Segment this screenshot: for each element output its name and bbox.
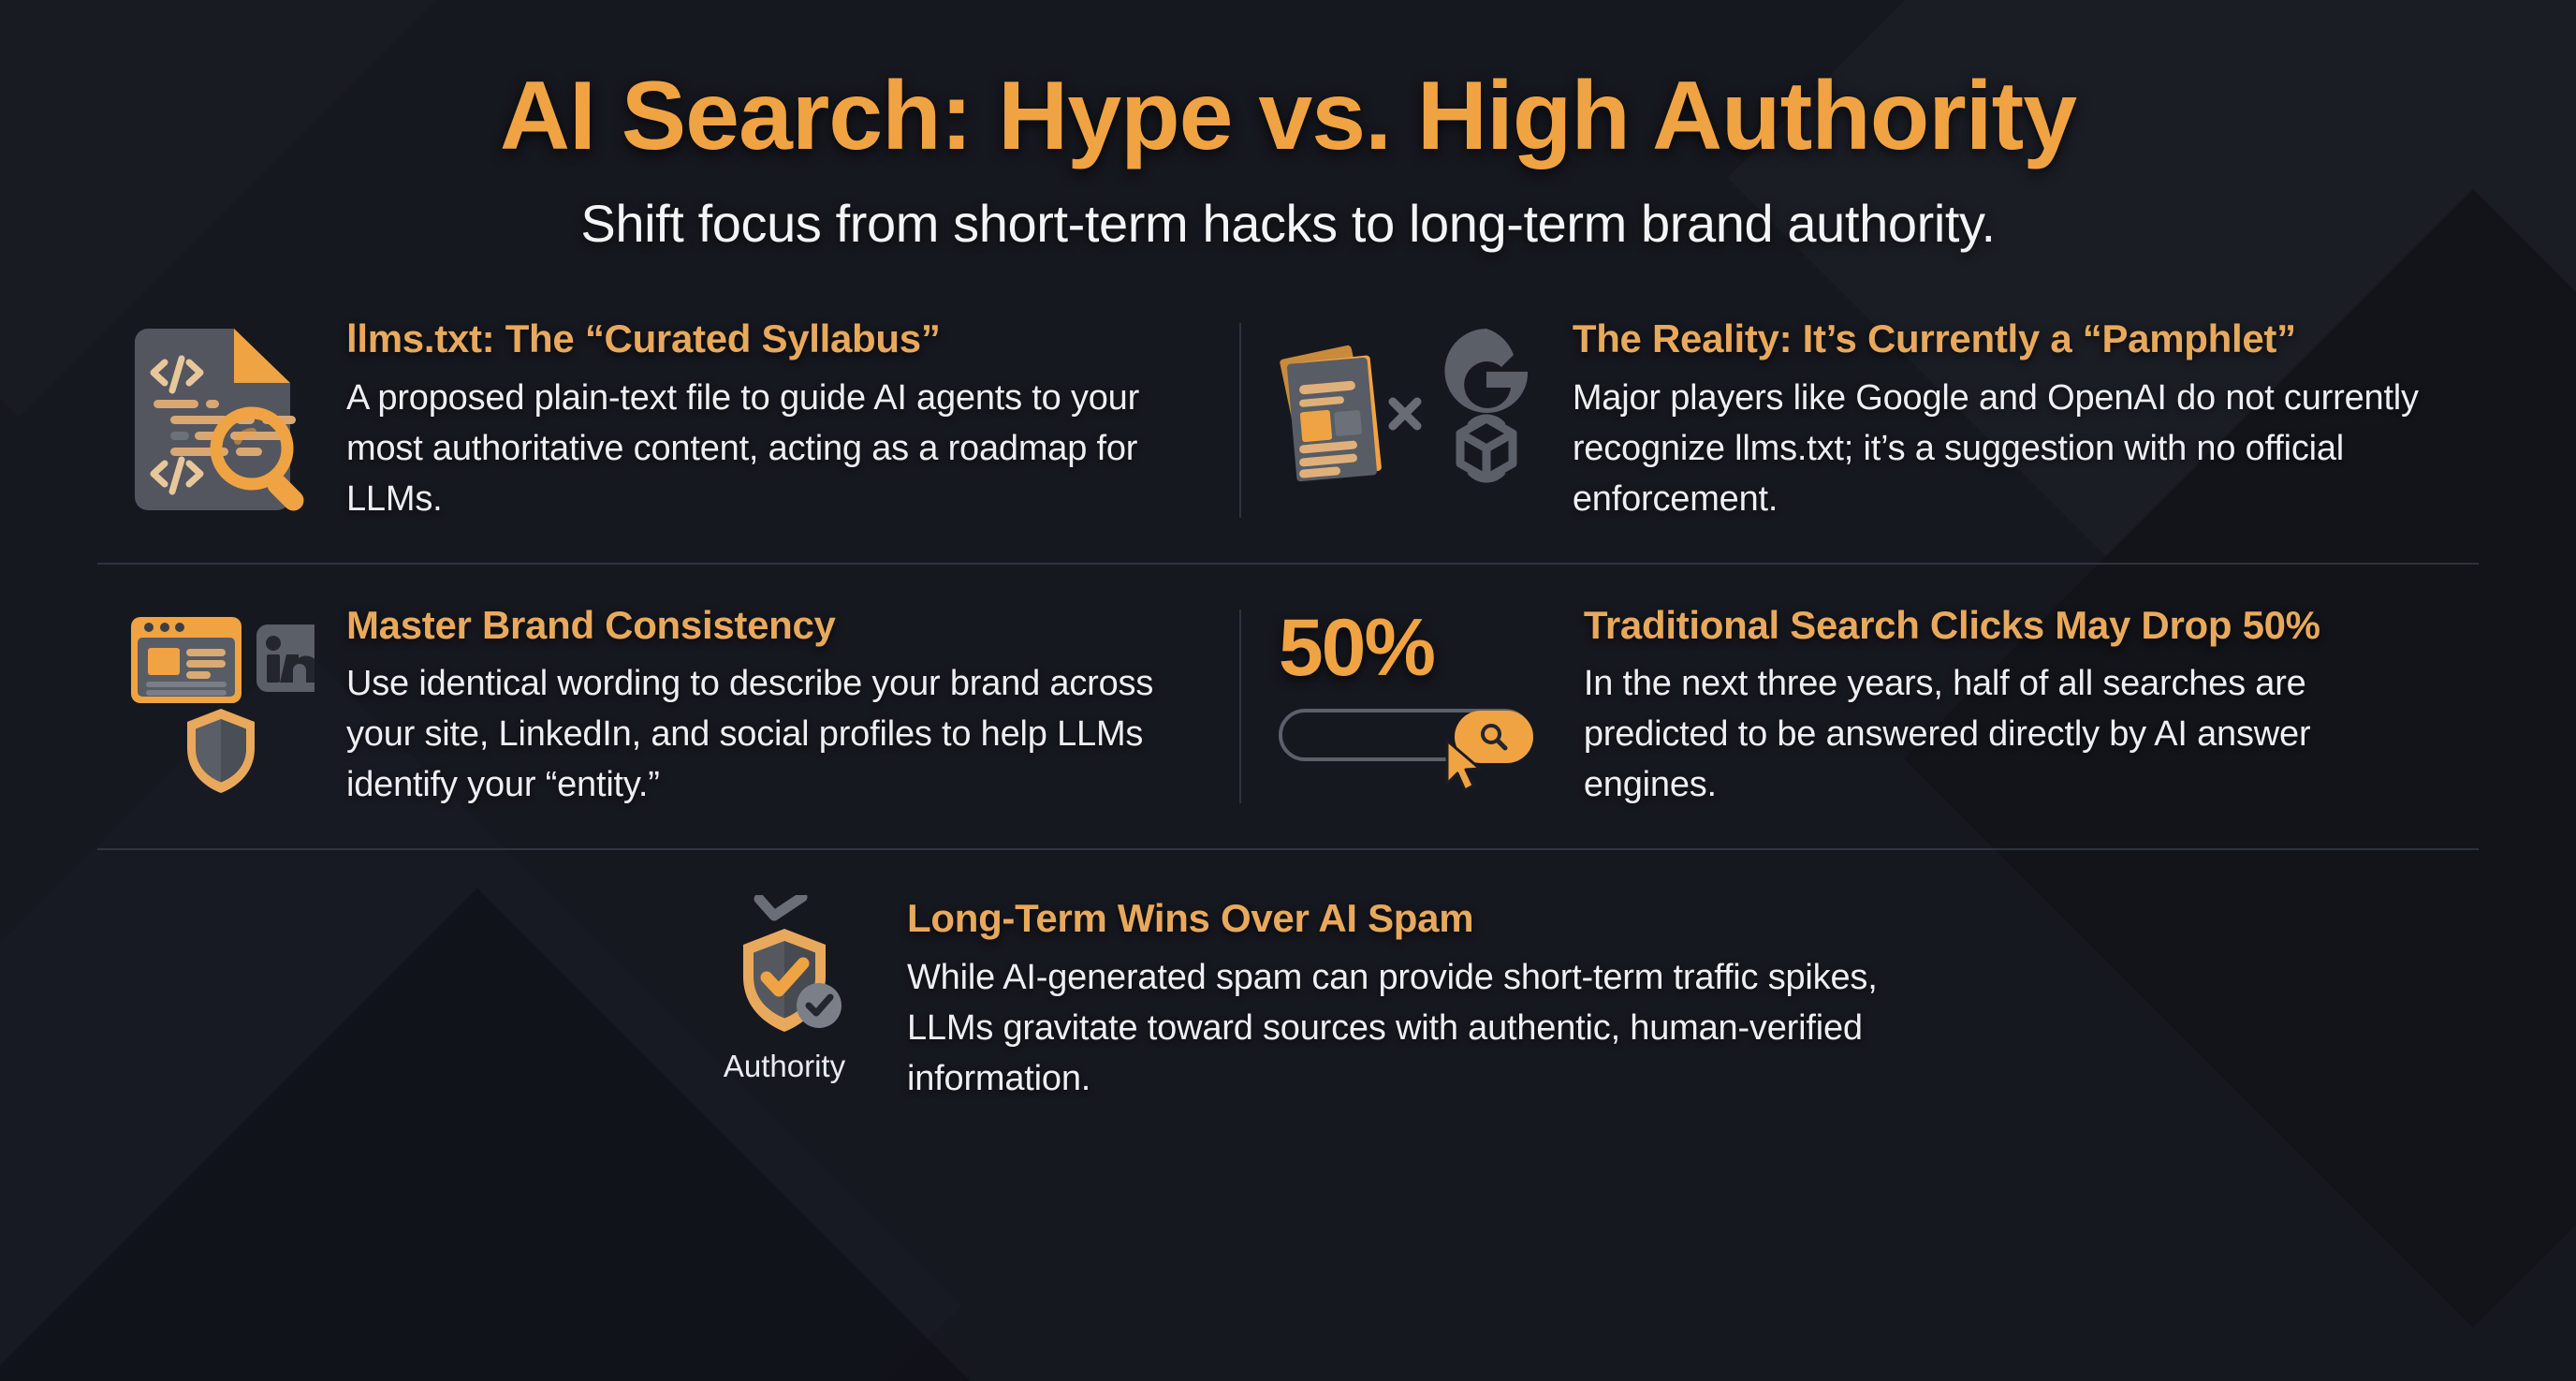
- card-reality-icons: [1279, 316, 1541, 508]
- card-row-3: Authority Long-Term Wins Over AI Spam Wh…: [90, 882, 2486, 1104]
- page-subtitle: Shift focus from short-term hacks to lon…: [90, 193, 2486, 254]
- card-clicks-icons: 50%: [1279, 602, 1552, 761]
- card-title: Traditional Search Clicks May Drop 50%: [1584, 602, 2449, 649]
- card-body: A proposed plain-text file to guide AI a…: [346, 374, 1202, 525]
- card-reality-pamphlet: The Reality: It’s Currently a “Pamphlet”…: [1241, 310, 2486, 530]
- vertical-divider: [1239, 610, 1241, 803]
- pamphlet-stack-icon: [1279, 345, 1382, 481]
- authority-icon-group: Authority: [695, 895, 873, 1084]
- card-brand-icons: [127, 602, 315, 795]
- cards-grid: llms.txt: The “Curated Syllabus” A propo…: [90, 310, 2486, 1104]
- card-llms-txt-text: llms.txt: The “Curated Syllabus” A propo…: [346, 316, 1202, 524]
- card-long-term-text: Long-Term Wins Over AI Spam While AI-gen…: [907, 895, 1881, 1104]
- browser-window-icon: [131, 617, 241, 703]
- card-llms-txt: llms.txt: The “Curated Syllabus” A propo…: [90, 310, 1239, 530]
- search-bar-icon: [1279, 709, 1531, 761]
- card-row-1: llms.txt: The “Curated Syllabus” A propo…: [90, 310, 2486, 530]
- browser-linkedin-shield-icons: [127, 608, 315, 795]
- card-title: The Reality: It’s Currently a “Pamphlet”: [1573, 316, 2449, 362]
- google-g-icon: [1444, 329, 1528, 413]
- pamphlet-google-openai-icons: [1279, 321, 1541, 508]
- check-mark-icon: [759, 897, 802, 916]
- card-body: While AI-generated spam can provide shor…: [907, 953, 1881, 1105]
- card-title: Master Brand Consistency: [346, 602, 1202, 649]
- card-body: Major players like Google and OpenAI do …: [1573, 374, 2449, 525]
- card-reality-text: The Reality: It’s Currently a “Pamphlet”…: [1573, 316, 2449, 524]
- header: AI Search: Hype vs. High Authority Shift…: [90, 0, 2486, 254]
- cursor-arrow-icon: [1442, 739, 1485, 795]
- card-long-term-wins: Authority Long-Term Wins Over AI Spam Wh…: [695, 882, 1881, 1104]
- card-clicks-drop: 50%: [1241, 596, 2486, 816]
- authority-label: Authority: [724, 1049, 845, 1084]
- horizontal-divider: [97, 848, 2479, 850]
- card-title: Long-Term Wins Over AI Spam: [907, 895, 1881, 942]
- openai-icon: [1460, 419, 1513, 478]
- shield-check-icon: [714, 895, 855, 1041]
- card-clicks-text: Traditional Search Clicks May Drop 50% I…: [1584, 602, 2449, 811]
- horizontal-divider: [97, 563, 2479, 565]
- stat-value: 50%: [1279, 608, 1552, 688]
- linkedin-icon: [256, 624, 315, 692]
- card-brand-text: Master Brand Consistency Use identical w…: [346, 602, 1202, 811]
- card-title: llms.txt: The “Curated Syllabus”: [346, 316, 1202, 362]
- infographic-poster: AI Search: Hype vs. High Authority Shift…: [0, 0, 2576, 1381]
- verified-badge-icon: [797, 983, 842, 1028]
- card-row-2: Master Brand Consistency Use identical w…: [90, 596, 2486, 816]
- code-document-icon: [127, 321, 315, 514]
- vertical-divider: [1239, 323, 1241, 517]
- card-brand-consistency: Master Brand Consistency Use identical w…: [90, 596, 1239, 816]
- card-llms-txt-icons: [127, 316, 315, 514]
- page-title: AI Search: Hype vs. High Authority: [90, 64, 2486, 169]
- card-body: Use identical wording to describe your b…: [346, 659, 1202, 811]
- poster-content: AI Search: Hype vs. High Authority Shift…: [0, 0, 2576, 1105]
- shield-icon: [187, 709, 255, 793]
- multiply-icon: [1393, 402, 1417, 426]
- card-body: In the next three years, half of all sea…: [1584, 659, 2449, 811]
